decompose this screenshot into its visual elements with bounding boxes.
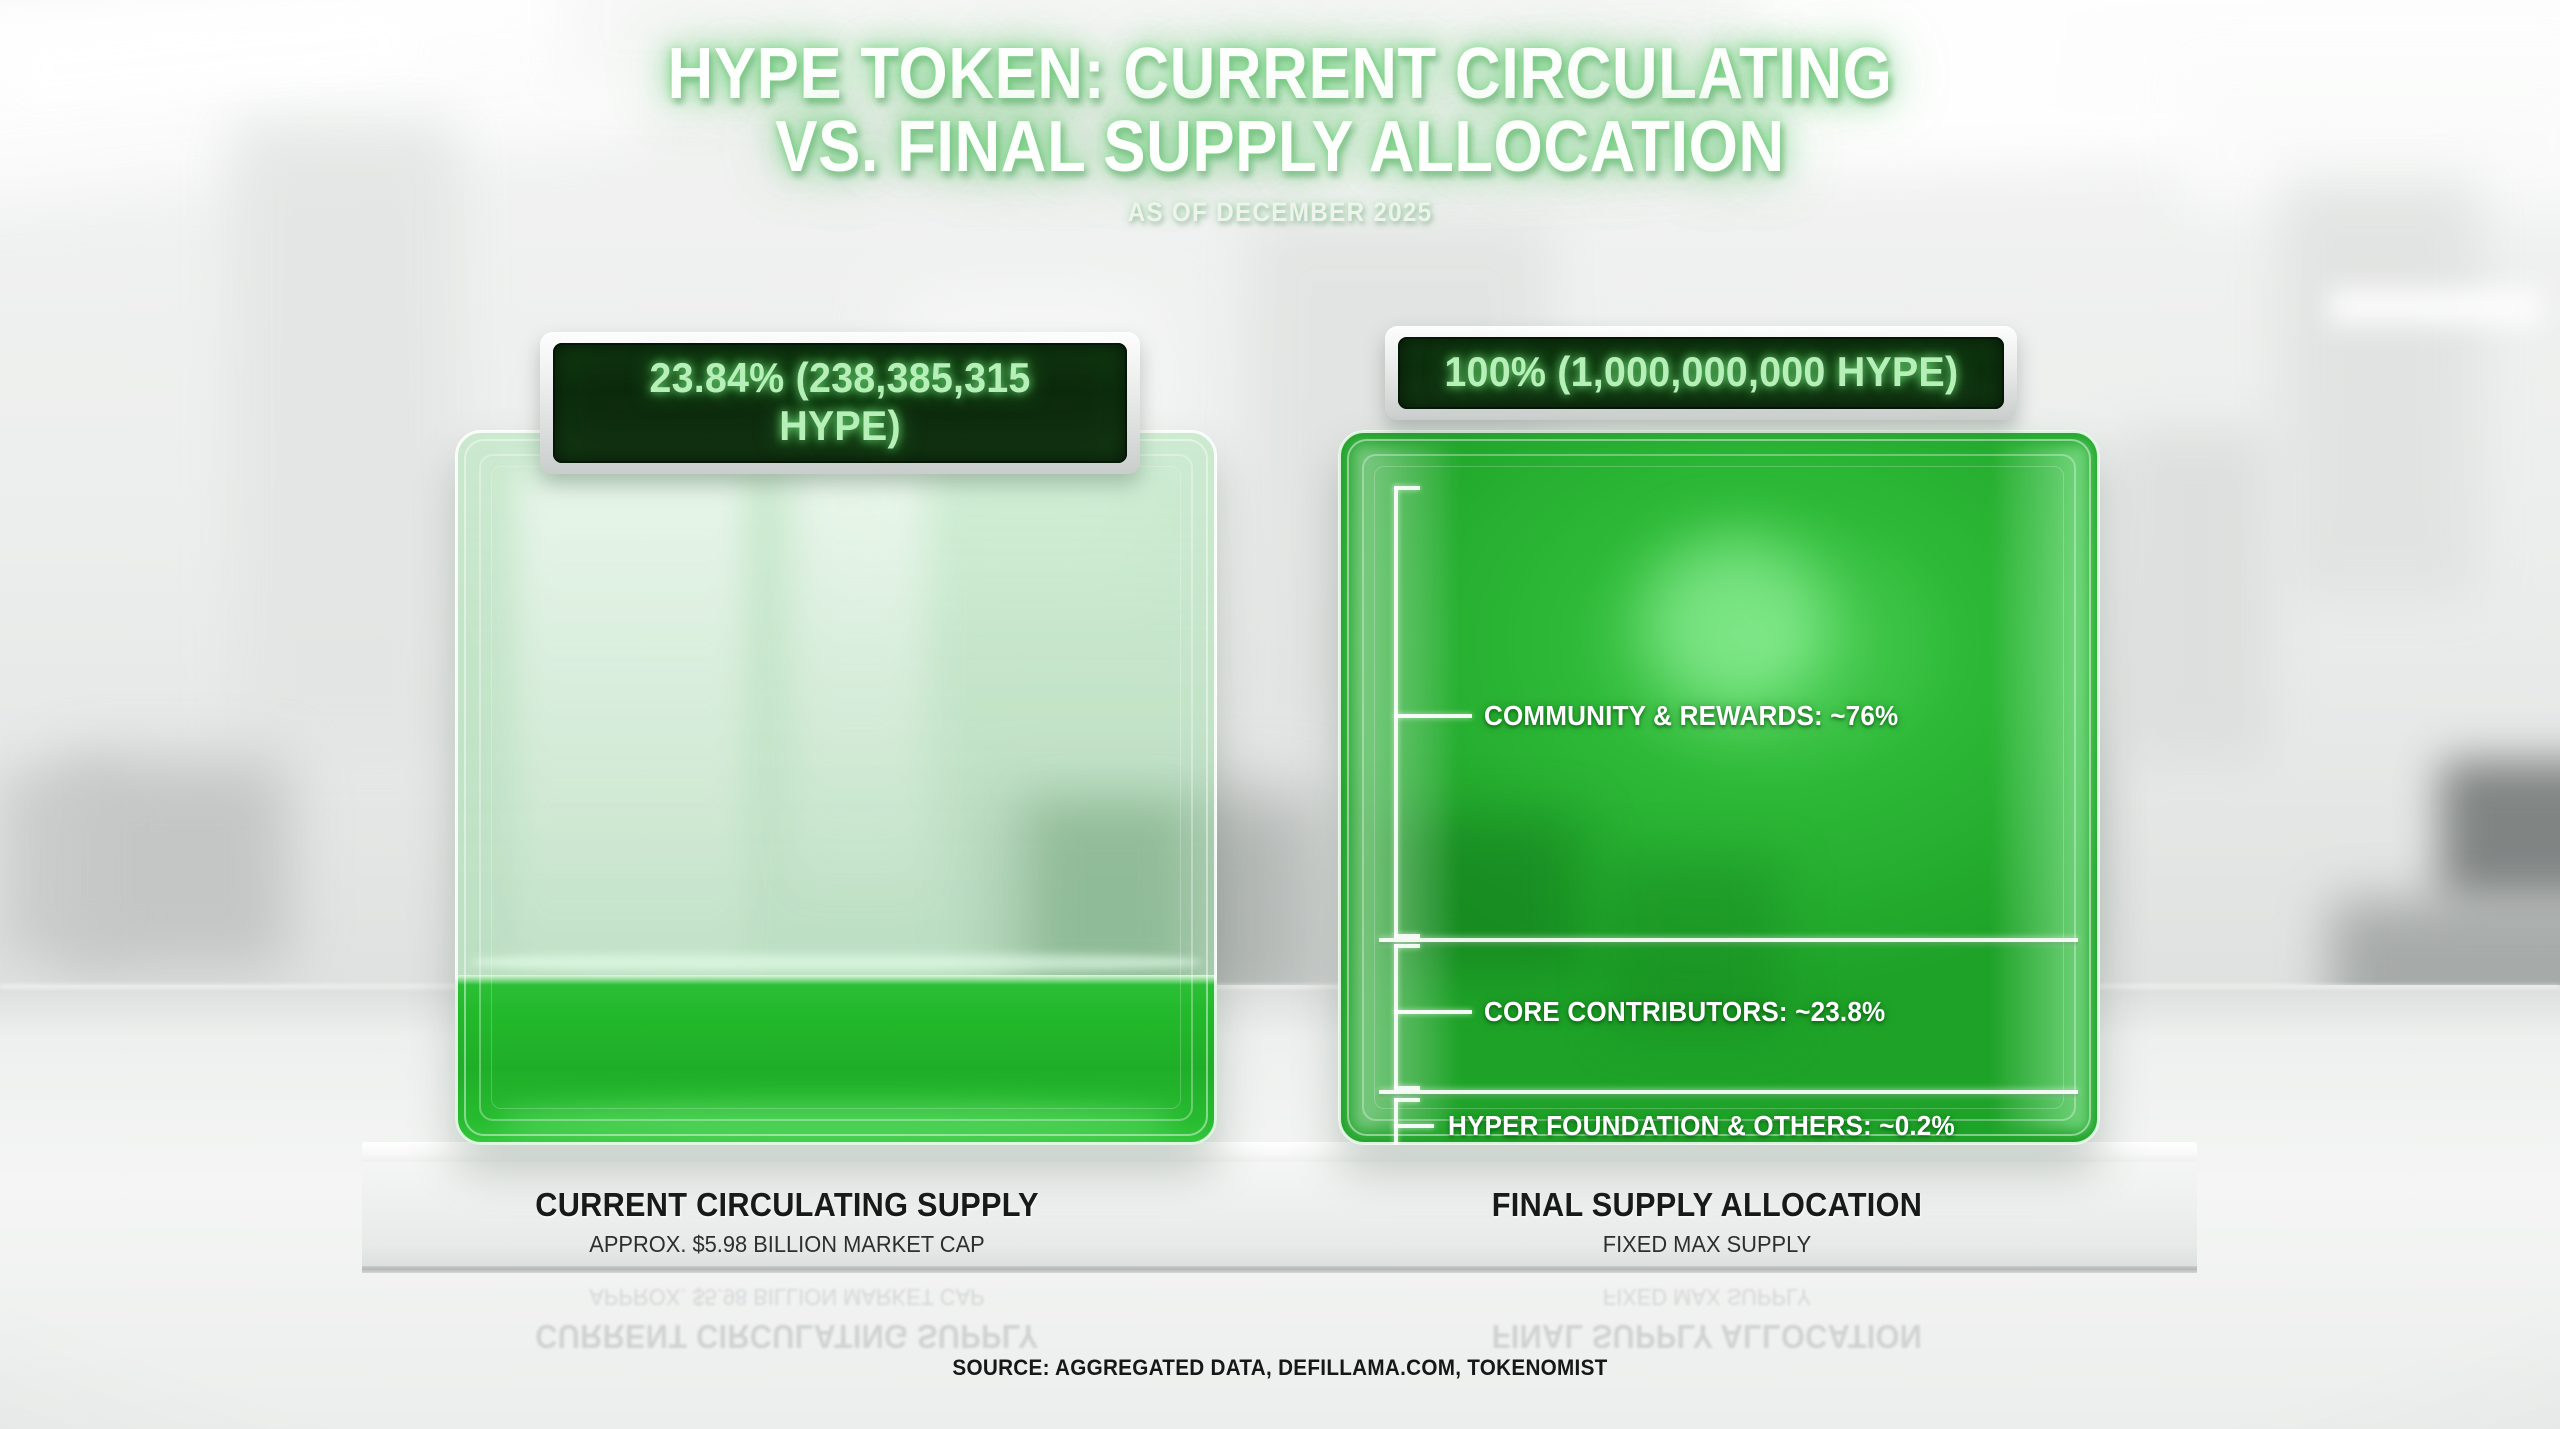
title-block: HYPE TOKEN: CURRENT CIRCULATING VS. FINA… xyxy=(0,38,2560,228)
segment-label-hyper-foundation: HYPER FOUNDATION & OTHERS: ~0.2% xyxy=(1448,1110,1955,1142)
glass-highlight xyxy=(516,473,745,974)
segment-divider-community-core xyxy=(1379,938,2078,942)
left-value-screen: 23.84% (238,385,315 HYPE) xyxy=(553,343,1127,463)
left-caption-title: CURRENT CIRCULATING SUPPLY xyxy=(410,1186,1163,1224)
bracket-cap-top xyxy=(1394,944,1420,948)
leader-line-community-rewards xyxy=(1394,714,1472,718)
bg-monitor-blur xyxy=(2440,760,2560,900)
liquid-surface-meniscus xyxy=(470,949,1202,975)
leader-line-core-contributors xyxy=(1394,1010,1472,1014)
left-caption-subtitle-reflection: APPROX. $5.98 BILLION MARKET CAP xyxy=(402,1283,1172,1310)
right-caption-title: FINAL SUPPLY ALLOCATION xyxy=(1256,1186,2158,1224)
current-circulating-supply-container xyxy=(455,430,1217,1145)
liquid-base-glow xyxy=(501,1105,1172,1139)
page-title-line-2: VS. FINAL SUPPLY ALLOCATION xyxy=(154,111,2407,184)
right-caption-subtitle-reflection: FIXED MAX SUPPLY xyxy=(1246,1283,2168,1310)
right-caption-subtitle: FIXED MAX SUPPLY xyxy=(1246,1231,2168,1258)
left-caption-reflection: CURRENT CIRCULATING SUPPLY APPROX. $5.98… xyxy=(382,1283,1192,1355)
bracket-cap-bottom xyxy=(1394,1086,1420,1090)
left-glass-body xyxy=(455,430,1217,1145)
bracket-cap-top xyxy=(1394,1098,1420,1102)
page-subtitle: AS OF DECEMBER 2025 xyxy=(128,197,2432,228)
bg-wall-panel xyxy=(2280,180,2480,600)
pedestal-top-face xyxy=(362,1142,2197,1164)
right-caption: FINAL SUPPLY ALLOCATION FIXED MAX SUPPLY xyxy=(1222,1186,2192,1258)
liquid-fill-level xyxy=(455,975,1217,1145)
bg-light-strip xyxy=(2330,290,2540,324)
final-supply-allocation-container: COMMUNITY & REWARDS: ~76% CORE CONTRIBUT… xyxy=(1338,430,2100,1145)
right-value-plaque: 100% (1,000,000,000 HYPE) xyxy=(1385,326,2017,420)
right-caption-reflection: FINAL SUPPLY ALLOCATION FIXED MAX SUPPLY xyxy=(1222,1283,2192,1355)
bracket-cap-top xyxy=(1394,486,1420,490)
infographic-stage: HYPE TOKEN: CURRENT CIRCULATING VS. FINA… xyxy=(0,0,2560,1429)
right-value-text: 100% (1,000,000,000 HYPE) xyxy=(1444,348,1958,396)
left-caption-title-reflection: CURRENT CIRCULATING SUPPLY xyxy=(410,1317,1163,1355)
page-title-line-1: HYPE TOKEN: CURRENT CIRCULATING xyxy=(154,38,2407,111)
bracket-core-contributors xyxy=(1394,944,1398,1090)
left-value-text: 23.84% (238,385,315 HYPE) xyxy=(591,354,1089,450)
source-footnote: SOURCE: AGGREGATED DATA, DEFILLAMA.COM, … xyxy=(77,1355,2483,1381)
left-caption: CURRENT CIRCULATING SUPPLY APPROX. $5.98… xyxy=(382,1186,1192,1258)
right-caption-title-reflection: FINAL SUPPLY ALLOCATION xyxy=(1256,1317,2158,1355)
pedestal-bottom-edge xyxy=(362,1266,2197,1273)
segment-label-community-rewards: COMMUNITY & REWARDS: ~76% xyxy=(1484,700,1898,732)
glass-highlight xyxy=(1643,537,1826,709)
leader-line-hyper-foundation xyxy=(1394,1124,1434,1128)
left-value-plaque: 23.84% (238,385,315 HYPE) xyxy=(540,332,1140,474)
glass-highlight xyxy=(790,459,927,902)
right-glass-body: COMMUNITY & REWARDS: ~76% CORE CONTRIBUT… xyxy=(1338,430,2100,1145)
pedestal-base: CURRENT CIRCULATING SUPPLY APPROX. $5.98… xyxy=(362,1142,2197,1279)
glass-highlight xyxy=(1353,444,1452,1130)
bg-wall-panel xyxy=(2120,430,2270,760)
floor-wall-seam xyxy=(0,985,2560,988)
bracket-hyper-foundation xyxy=(1394,1098,1398,1145)
bracket-community-rewards xyxy=(1394,486,1398,938)
bg-furniture-blur xyxy=(0,770,120,960)
glass-highlight xyxy=(1997,444,2088,1130)
segment-divider-core-foundation xyxy=(1379,1090,2078,1094)
left-caption-subtitle: APPROX. $5.98 BILLION MARKET CAP xyxy=(402,1231,1172,1258)
segment-label-core-contributors: CORE CONTRIBUTORS: ~23.8% xyxy=(1484,996,1885,1028)
bracket-cap-bottom xyxy=(1394,934,1420,938)
right-value-screen: 100% (1,000,000,000 HYPE) xyxy=(1398,337,2004,409)
